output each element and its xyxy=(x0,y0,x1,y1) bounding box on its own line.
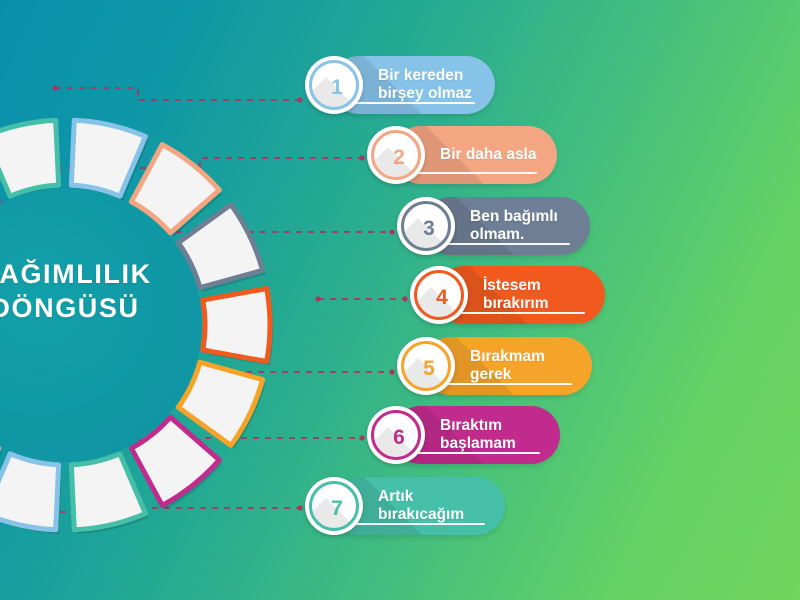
step-pill-underline xyxy=(414,172,537,174)
step-number-badge[interactable]: 7 xyxy=(305,477,363,535)
step-item[interactable]: Bırakmam gerek5 xyxy=(0,337,800,395)
step-badge-ring: 1 xyxy=(309,60,359,110)
step-badge-ring: 5 xyxy=(401,341,451,391)
step-badge-ring: 3 xyxy=(401,201,451,251)
step-label: Ben bağımlı olmam. xyxy=(470,208,582,244)
step-item[interactable]: Artık bırakıcağım7 xyxy=(0,477,800,535)
step-number: 1 xyxy=(312,63,359,110)
step-item[interactable]: Ben bağımlı olmam.3 xyxy=(0,197,800,255)
step-number: 7 xyxy=(312,484,359,531)
step-badge-ring: 4 xyxy=(414,270,464,320)
step-number: 6 xyxy=(374,413,421,460)
step-badge-ring: 2 xyxy=(371,130,421,180)
step-number: 4 xyxy=(417,273,464,320)
step-number-badge[interactable]: 1 xyxy=(305,56,363,114)
step-number: 2 xyxy=(374,133,421,180)
step-item[interactable]: Bıraktım başlamam6 xyxy=(0,406,800,464)
step-label: Bıraktım başlamam xyxy=(440,417,552,453)
step-number: 3 xyxy=(404,204,451,251)
step-label: Bir daha asla xyxy=(440,146,549,164)
step-number-badge[interactable]: 3 xyxy=(397,197,455,255)
step-label: İstesem bırakırım xyxy=(483,277,597,313)
step-item[interactable]: Bir daha asla2 xyxy=(0,126,800,184)
step-number-badge[interactable]: 2 xyxy=(367,126,425,184)
infographic-canvas: BAĞIMLILIK DÖNGÜSÜ Bir kereden birşey ol… xyxy=(0,0,800,600)
step-number-badge[interactable]: 5 xyxy=(397,337,455,395)
step-label: Bırakmam gerek xyxy=(470,348,584,384)
step-number: 5 xyxy=(404,344,451,391)
step-number-badge[interactable]: 4 xyxy=(410,266,468,324)
step-label: Bir kereden birşey olmaz xyxy=(378,67,487,103)
step-item[interactable]: Bir kereden birşey olmaz1 xyxy=(0,56,800,114)
step-badge-ring: 7 xyxy=(309,481,359,531)
step-number-badge[interactable]: 6 xyxy=(367,406,425,464)
step-label: Artık bırakıcağım xyxy=(378,488,497,524)
step-badge-ring: 6 xyxy=(371,410,421,460)
step-item[interactable]: İstesem bırakırım4 xyxy=(0,266,800,324)
step-list: Bir kereden birşey olmaz1Bir daha asla2B… xyxy=(0,0,800,600)
